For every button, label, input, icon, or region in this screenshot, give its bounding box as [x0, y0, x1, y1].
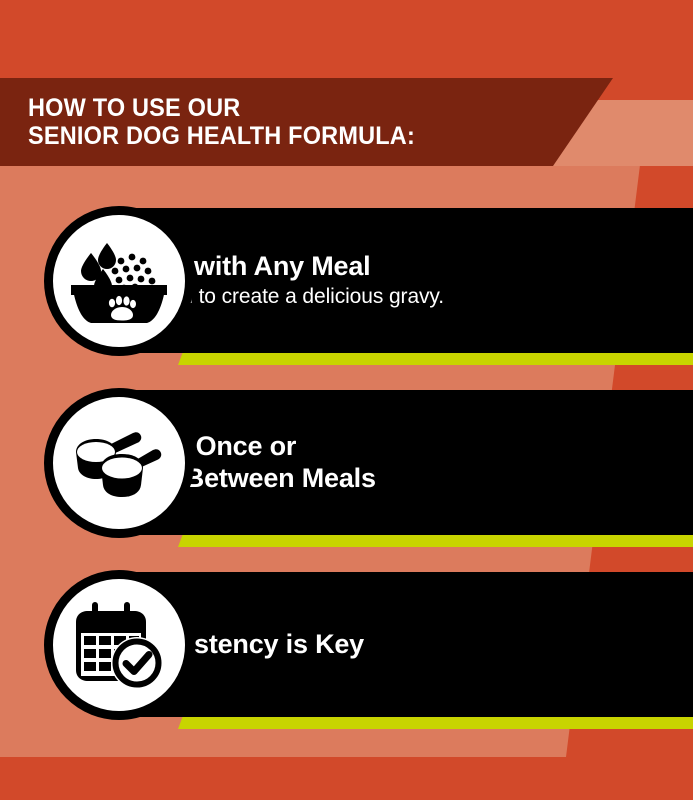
- card-1-icon-badge: [44, 206, 194, 356]
- page-title: HOW TO USE OUR SENIOR DOG HEALTH FORMULA…: [28, 94, 415, 150]
- card-2-icon-badge: [44, 388, 194, 538]
- calendar-with-checkmark-icon: [73, 600, 165, 690]
- measuring-scoops-icon: [73, 426, 165, 500]
- page-title-line-2: SENIOR DOG HEALTH FORMULA:: [28, 122, 415, 150]
- dog-bowl-with-water-drops-icon: [69, 235, 169, 327]
- card-3-icon-badge: [44, 570, 194, 720]
- infographic-canvas: HOW TO USE OUR SENIOR DOG HEALTH FORMULA…: [0, 0, 693, 800]
- page-title-line-1: HOW TO USE OUR: [28, 94, 415, 122]
